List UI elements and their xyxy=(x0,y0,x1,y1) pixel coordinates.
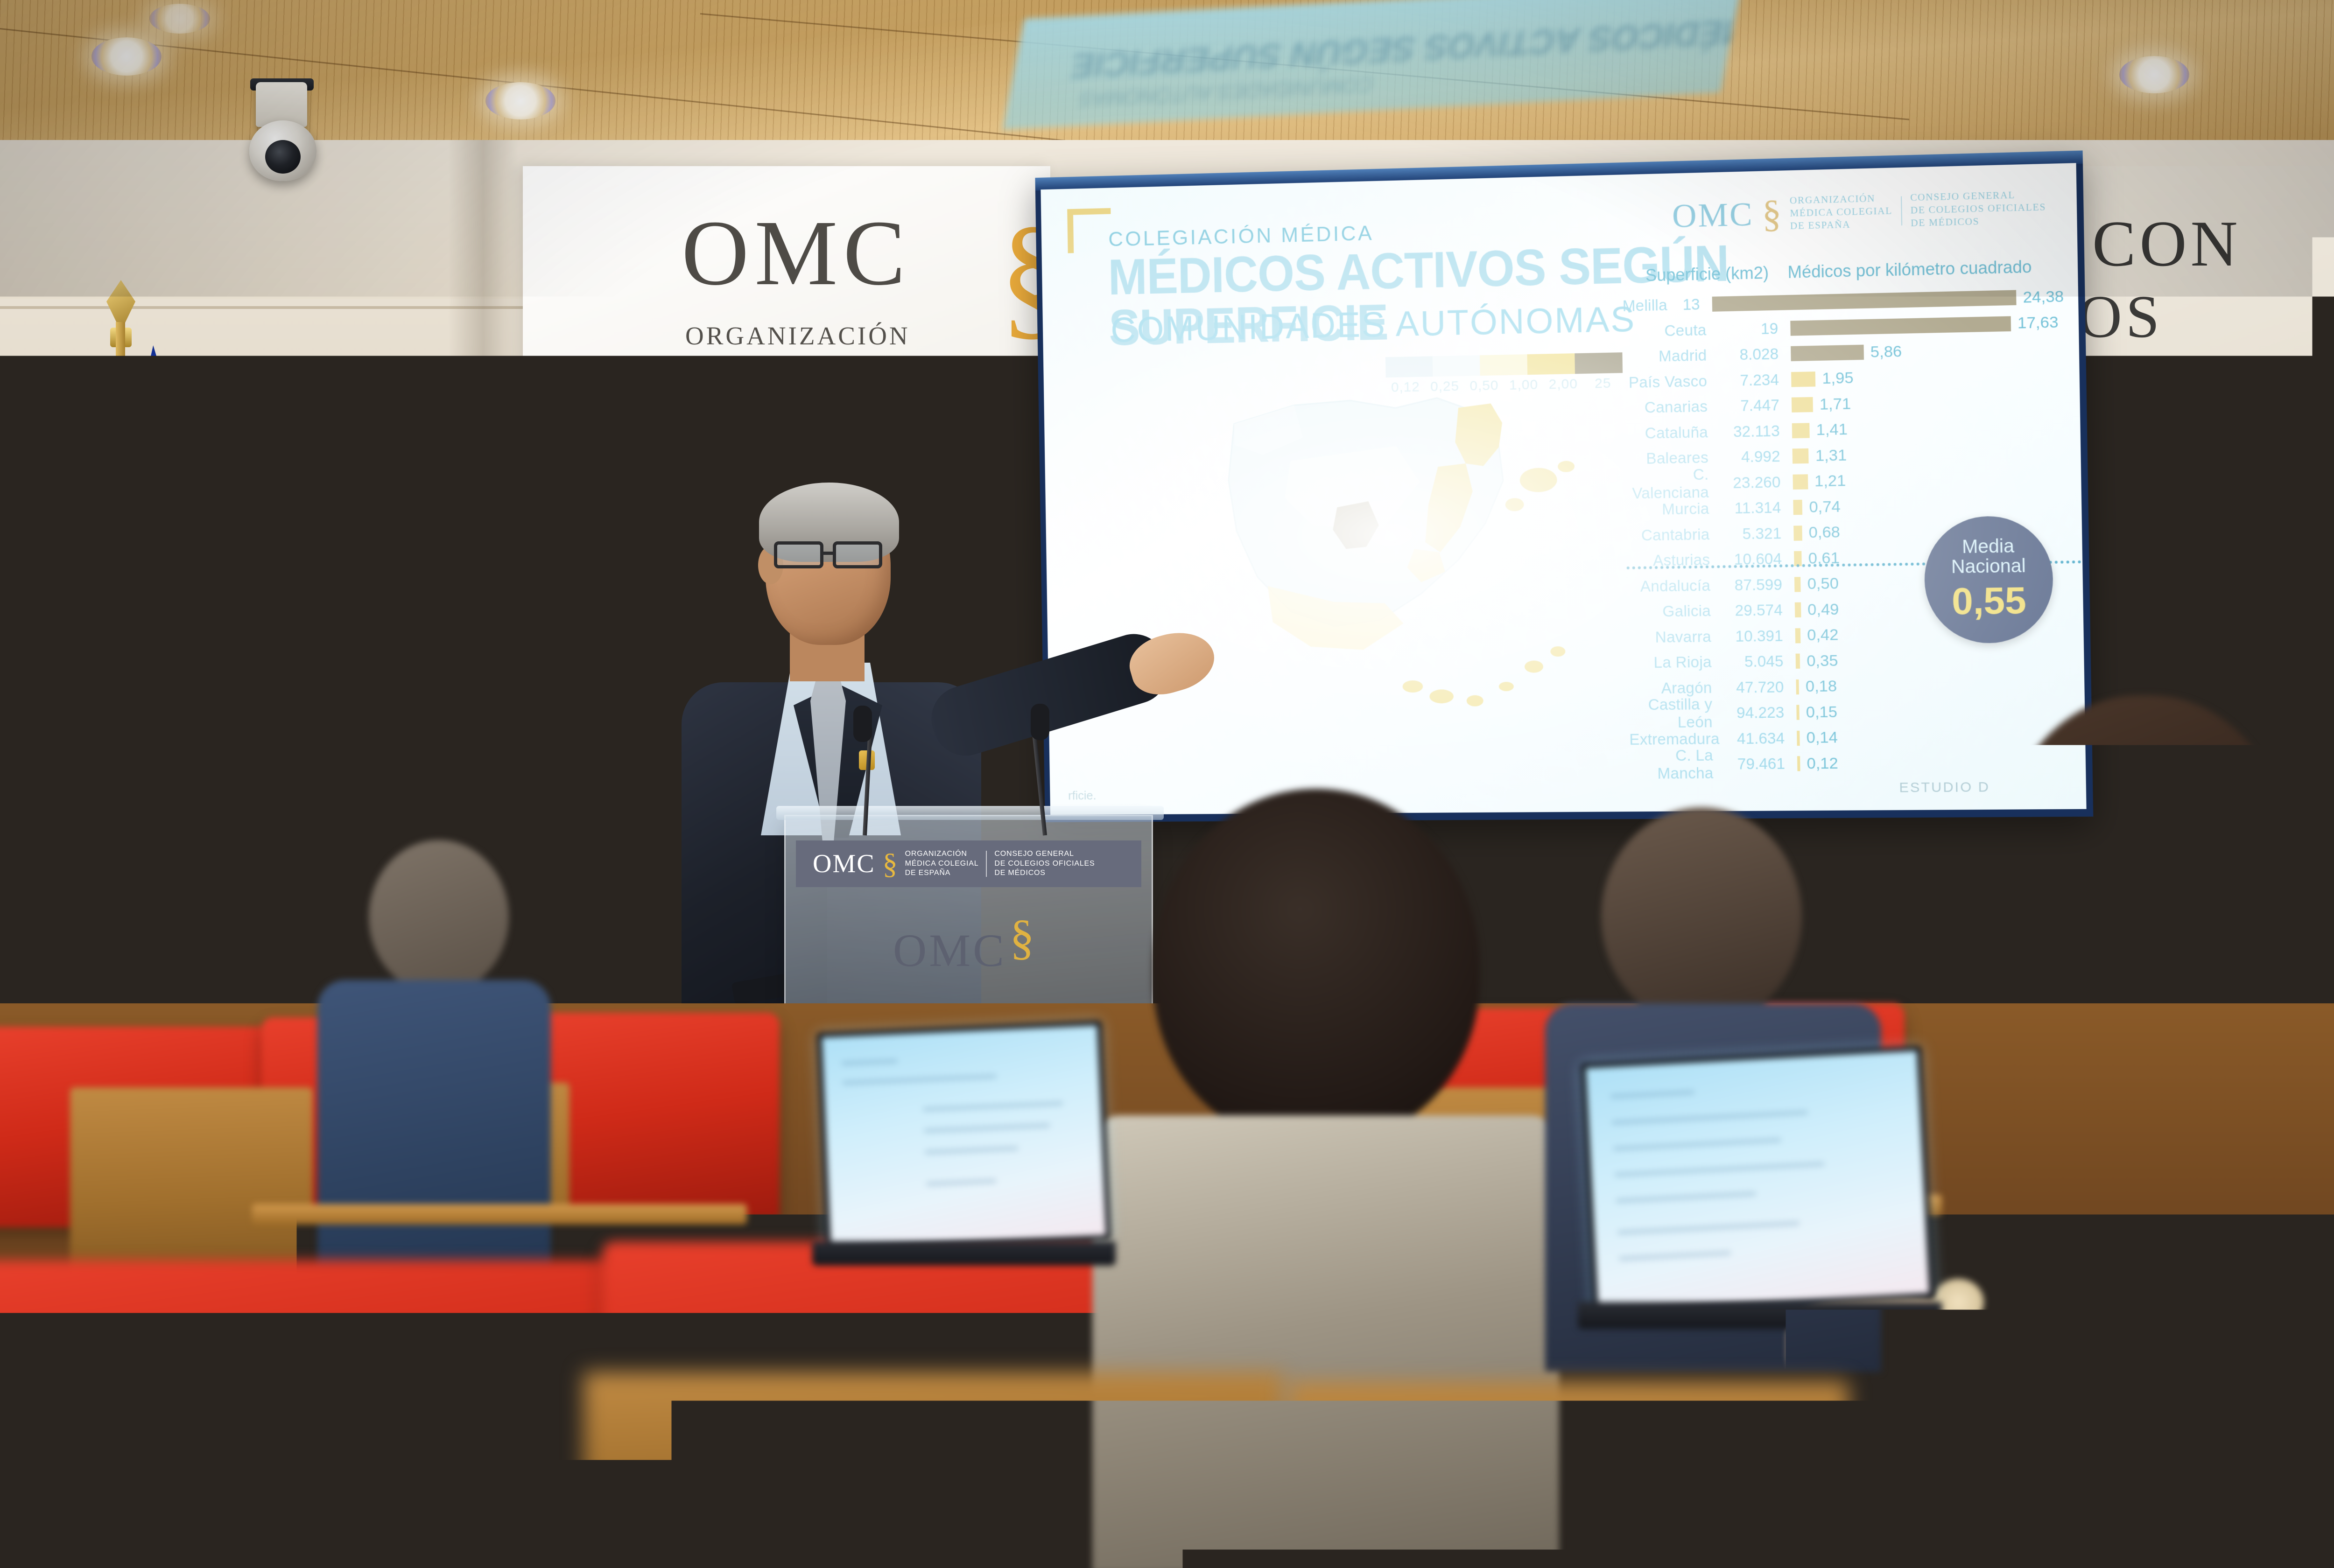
desk-bokeh-highlight xyxy=(686,1162,716,1232)
row-region-name: Canarias xyxy=(1624,398,1716,417)
row-surface-value: 79.461 xyxy=(1722,755,1785,773)
row-bar xyxy=(1794,577,1801,592)
legend-tick: 1,00 xyxy=(1504,377,1543,393)
row-bar-cell: 0,35 xyxy=(1783,649,2070,671)
row-surface-value: 7.447 xyxy=(1716,396,1779,415)
row-bar-value-label: 0,42 xyxy=(1807,626,1839,644)
row-bar-value-label: 0,35 xyxy=(1807,651,1838,670)
row-bar xyxy=(1795,628,1801,643)
laptop-screen-text-line xyxy=(1610,1091,1694,1098)
row-surface-value: 10.391 xyxy=(1720,627,1783,645)
legend-swatch xyxy=(1575,352,1623,374)
ceiling-downlight xyxy=(485,82,555,119)
audience-member xyxy=(289,840,551,1260)
eu-star-icon: ★ xyxy=(152,667,182,700)
legend-swatch xyxy=(1433,355,1480,377)
banner-left-logo: OMC xyxy=(682,200,911,307)
legend-color-bar xyxy=(1385,352,1623,378)
audience-head xyxy=(369,840,509,994)
slide-logo-divider xyxy=(1901,196,1902,225)
row-bar-value-label: 0,15 xyxy=(1806,703,1837,721)
audience-head xyxy=(1601,807,1802,1027)
laptop-screen-text-line xyxy=(926,1179,996,1186)
laptop-screen-text-line xyxy=(843,1075,997,1085)
legend-tick: 25 xyxy=(1583,375,1623,392)
row-bar-cell: 5,86 xyxy=(1779,339,2065,364)
badge-label-line1: Media xyxy=(1962,536,2014,557)
row-surface-value: 94.223 xyxy=(1721,704,1784,722)
row-region-name: Melilla xyxy=(1623,296,1676,315)
nameplate-name: IA IZURA xyxy=(0,935,57,951)
legend-swatch xyxy=(1385,356,1433,378)
laptop-screen-text-line xyxy=(842,1059,898,1065)
row-bar xyxy=(1796,679,1799,694)
laptop-screen-text-line xyxy=(1617,1221,1800,1234)
legend-swatch xyxy=(1527,353,1575,375)
table-row: La Rioja5.0450,35 xyxy=(1628,645,2070,676)
row-bar xyxy=(1792,423,1810,438)
row-bar-cell: 0,18 xyxy=(1784,675,2070,696)
banner-left-divider xyxy=(687,427,841,429)
row-surface-value: 87.599 xyxy=(1719,575,1782,594)
banner-right-line1: CON xyxy=(2092,206,2242,281)
lectern-sign-divider xyxy=(986,851,987,877)
row-surface-value: 47.720 xyxy=(1721,678,1784,697)
row-bar xyxy=(1793,525,1802,541)
row-bar xyxy=(1791,371,1815,387)
row-bar-value-label: 0,50 xyxy=(1807,574,1839,593)
slide-logo-org-lines: ORGANIZACIÓN MÉDICA COLEGIAL DE ESPAÑA xyxy=(1790,192,1893,232)
glasses-bridge xyxy=(823,552,834,555)
row-bar-value-label: 0,14 xyxy=(1806,728,1838,747)
speaker-nameplate: IA IZURA de la OMC xyxy=(0,915,106,985)
row-bar-cell: 1,95 xyxy=(1779,365,2066,389)
audience-laptop xyxy=(1581,1046,1934,1315)
audience-torso xyxy=(317,980,551,1269)
laptop-base xyxy=(1578,1302,1942,1329)
foreground-desk-wood xyxy=(1288,1381,1849,1568)
desk-bokeh-highlight xyxy=(784,1167,811,1232)
legend-tick: 0,50 xyxy=(1464,378,1504,394)
row-region-name: La Rioja xyxy=(1628,653,1721,672)
row-region-name: Castilla y León xyxy=(1629,695,1721,732)
row-bar-value-label: 0,18 xyxy=(1806,677,1837,696)
row-region-name: Aragón xyxy=(1628,679,1721,697)
slide-omc-logo: OMC § ORGANIZACIÓN MÉDICA COLEGIAL DE ES… xyxy=(1672,188,2046,236)
row-surface-value: 32.113 xyxy=(1716,422,1780,441)
legend-tick: 0,12 xyxy=(1386,379,1426,395)
row-region-name: Galicia xyxy=(1627,602,1720,621)
foreground-desk-wood xyxy=(583,1372,1284,1568)
row-bar-value-label: 17,63 xyxy=(2018,314,2059,333)
row-bar-value-label: 1,31 xyxy=(1815,446,1847,465)
eu-star-icon: ★ xyxy=(126,541,169,590)
row-bar xyxy=(1796,705,1800,720)
aesculapius-snake-icon: § xyxy=(79,889,91,905)
row-bar-value-label: 0,49 xyxy=(1807,600,1839,619)
row-bar xyxy=(1793,448,1809,464)
ceiling-downlight xyxy=(91,37,162,76)
laptop-screen xyxy=(1581,1046,1934,1315)
row-bar-cell: 17,63 xyxy=(1778,313,2064,337)
map-region-baleares xyxy=(1519,468,1557,492)
row-surface-value: 7.234 xyxy=(1715,371,1779,390)
ceiling-downlight xyxy=(149,4,210,34)
lectern-org-lines: ORGANIZACIÓN MÉDICA COLEGIAL DE ESPAÑA xyxy=(905,849,979,878)
row-region-name: Cantabria xyxy=(1626,525,1718,545)
row-bar xyxy=(1793,500,1802,515)
map-region-canarias xyxy=(1402,680,1423,693)
row-bar-value-label: 0,74 xyxy=(1809,497,1841,516)
row-surface-value: 13 xyxy=(1676,295,1700,314)
slide-logo-council-lines: CONSEJO GENERAL DE COLEGIOS OFICIALES DE… xyxy=(1910,188,2046,230)
row-bar-cell: 1,71 xyxy=(1779,391,2066,414)
speaker-glasses-icon xyxy=(774,541,891,569)
laptop-screen xyxy=(817,1021,1111,1252)
row-surface-value: 8.028 xyxy=(1715,345,1779,364)
row-bar xyxy=(1792,397,1813,413)
nameplate-role: de la OMC xyxy=(0,958,49,971)
map-region-baleares xyxy=(1558,461,1575,472)
audience-laptop xyxy=(817,1021,1111,1252)
speaker-extended-arm xyxy=(923,626,1176,763)
row-surface-value: 4.992 xyxy=(1717,448,1780,466)
laptop-screen-text-line xyxy=(924,1124,1050,1133)
row-bar xyxy=(1712,290,2017,312)
map-region-canarias xyxy=(1499,682,1514,691)
row-bar xyxy=(1793,474,1808,490)
map-region-canarias xyxy=(1550,646,1565,657)
laptop-screen-text-line xyxy=(1615,1162,1825,1176)
laptop-screen-text-line xyxy=(1613,1138,1781,1150)
spain-choropleth-map xyxy=(1179,338,1647,744)
row-bar-cell: 0,74 xyxy=(1781,494,2067,517)
legend-swatch xyxy=(1480,354,1527,376)
map-color-legend: 0,12 0,25 0,50 1,00 2,00 25 xyxy=(1385,352,1623,396)
column-header-surface: Superficie (km2) xyxy=(1622,263,1778,286)
row-surface-value: 29.574 xyxy=(1719,601,1783,620)
table-microphone-head-icon xyxy=(33,816,58,833)
laptop-screen-text-line xyxy=(1612,1111,1808,1124)
laptop-screen-text-line xyxy=(1619,1251,1731,1260)
row-bar xyxy=(1795,602,1801,617)
laptop-base xyxy=(812,1241,1116,1266)
row-region-name: Cataluña xyxy=(1624,423,1717,443)
lectern-logo-mark: OMC xyxy=(813,849,875,879)
foreground-bench xyxy=(0,1391,569,1568)
map-region-baleares xyxy=(1505,498,1524,511)
row-region-name: C. La Mancha xyxy=(1630,747,1722,783)
row-surface-value: 41.634 xyxy=(1721,729,1785,748)
glasses-lens xyxy=(774,541,823,568)
row-bar-value-label: 1,71 xyxy=(1820,395,1851,414)
row-bar-value-label: 1,95 xyxy=(1822,369,1854,388)
row-bar-cell: 1,41 xyxy=(1779,417,2066,440)
laptop-screen-text-line xyxy=(923,1102,1063,1111)
row-bar-value-label: 0,12 xyxy=(1807,754,1838,773)
desk-bokeh-highlight xyxy=(644,1153,677,1227)
row-bar-value-label: 1,41 xyxy=(1816,420,1848,440)
map-region-canarias xyxy=(1467,695,1483,706)
lectern-lower-logo: OMC xyxy=(893,924,1006,977)
audience-head xyxy=(1998,695,2292,1050)
row-surface-value: 5.045 xyxy=(1720,652,1784,671)
row-region-name: País Vasco xyxy=(1624,372,1716,392)
row-bar xyxy=(1797,756,1800,771)
row-surface-value: 23.260 xyxy=(1717,473,1781,492)
audience-member xyxy=(1905,695,2334,1568)
row-bar-value-label: 5,86 xyxy=(1870,343,1902,362)
row-region-name: Navarra xyxy=(1628,628,1720,646)
camera-lens-icon xyxy=(265,140,301,174)
podium-microphone-head-icon xyxy=(853,706,872,742)
row-bar-cell: 24,38 xyxy=(1700,287,2064,314)
legend-tick: 2,00 xyxy=(1543,376,1583,393)
badge-value: 0,55 xyxy=(1951,579,2026,623)
press-conference-photo: MÉDICOS ACTIVOS SEGÚN SUPERFICIE COMUNID… xyxy=(0,0,2334,1568)
row-surface-value: 11.314 xyxy=(1718,499,1781,518)
aesculapius-snake-icon: § xyxy=(1010,920,1034,955)
desk-bokeh-highlight xyxy=(728,1148,756,1218)
legend-tick: 0,25 xyxy=(1425,378,1465,395)
map-region-canarias xyxy=(1525,660,1543,672)
row-bar xyxy=(1791,345,1864,361)
ceiling-downlight xyxy=(2119,56,2189,93)
laptop-screen-text-line xyxy=(925,1147,1018,1154)
row-bar-value-label: 1,21 xyxy=(1814,472,1846,490)
row-bar xyxy=(1797,731,1800,746)
row-region-name: Andalucía xyxy=(1627,576,1719,595)
row-bar-cell: 1,31 xyxy=(1780,442,2067,466)
row-bar-value-label: 24,38 xyxy=(2023,287,2064,307)
laptop-screen-text-line xyxy=(1616,1192,1756,1203)
row-bar xyxy=(1790,316,2011,336)
banner-left-org-lines: ORGANIZACIÓN MÉDICA COLEGIAL DE ESPAÑA xyxy=(685,319,955,420)
row-surface-value: 5.321 xyxy=(1718,525,1781,543)
badge-label-line2: Nacional xyxy=(1951,556,2026,577)
row-bar-cell: 1,21 xyxy=(1780,468,2067,491)
row-region-name: Extremadura xyxy=(1629,730,1722,749)
row-region-name: Madrid xyxy=(1623,346,1715,366)
row-region-name: Murcia xyxy=(1625,500,1718,519)
aesculapius-snake-icon: § xyxy=(1762,200,1781,228)
audience-head-curly-hair xyxy=(1153,789,1480,1143)
podium-microphone-head-icon xyxy=(1031,704,1049,740)
glasses-lens xyxy=(833,541,882,568)
slide-corner-bracket-icon xyxy=(1067,208,1111,253)
row-region-name: C. Valenciana xyxy=(1625,465,1717,502)
row-bar-value-label: 0,68 xyxy=(1808,523,1840,542)
banner-right-line2: OS xyxy=(2078,282,2163,352)
row-region-name: Ceuta xyxy=(1623,321,1715,341)
aesculapius-snake-icon: § xyxy=(883,853,898,875)
map-region-canarias xyxy=(1429,689,1454,703)
row-bar xyxy=(1796,654,1800,669)
row-surface-value: 19 xyxy=(1715,320,1778,339)
audience-torso-tan-sweater xyxy=(1923,1022,2334,1568)
slide-logo-mark: OMC xyxy=(1672,195,1754,236)
